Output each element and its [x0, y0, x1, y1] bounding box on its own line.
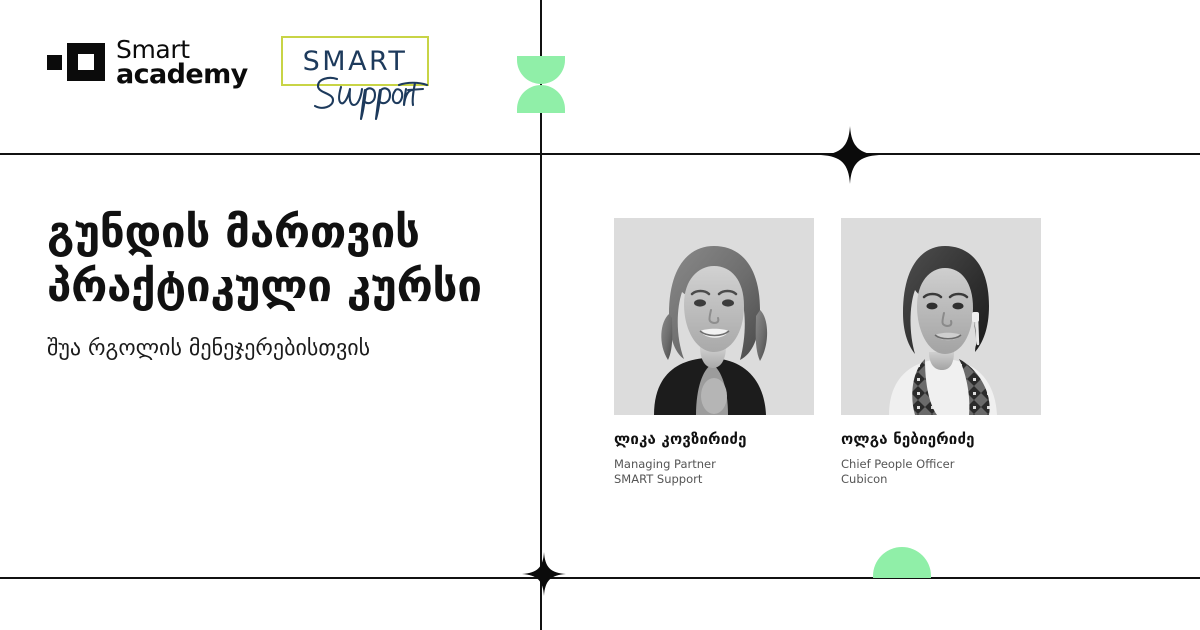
half-circle-shape	[873, 547, 931, 578]
page-title: გუნდის მართვის პრაქტიკული კურსი	[47, 206, 527, 313]
speaker-role: Chief People Officer Cubicon	[841, 457, 1041, 487]
smart-academy-wordmark: Smart academy	[116, 38, 248, 87]
logo-word-academy: academy	[116, 62, 248, 87]
speaker-card: ოლგა ნებიერიძე Chief People Officer Cubi…	[841, 218, 1041, 487]
speaker-name: ოლგა ნებიერიძე	[841, 430, 1041, 448]
square-in-square-mark-icon	[47, 43, 105, 81]
speaker-list: ლიკა კოვზირიძე Managing Partner SMART Su…	[614, 218, 1041, 487]
speaker-photo	[841, 218, 1041, 415]
small-square-icon	[47, 55, 62, 70]
sparkle-icon	[821, 126, 879, 184]
logo-script-support	[307, 69, 429, 121]
speaker-company: SMART Support	[614, 472, 814, 487]
speaker-role: Managing Partner SMART Support	[614, 457, 814, 487]
smart-support-logo[interactable]: SMART	[281, 36, 431, 126]
divider-line-bottom	[0, 577, 1200, 579]
speaker-name: ლიკა კოვზირიძე	[614, 430, 814, 448]
sparkle-icon	[522, 552, 566, 596]
speaker-job-title: Chief People Officer	[841, 457, 1041, 472]
speaker-job-title: Managing Partner	[614, 457, 814, 472]
logo-row: Smart academy SMART	[0, 0, 540, 153]
smart-academy-logo[interactable]: Smart academy	[47, 38, 248, 87]
hero-block: გუნდის მართვის პრაქტიკული კურსი შუა რგოლ…	[47, 206, 527, 364]
logo-word-smart: Smart	[116, 38, 248, 62]
speaker-company: Cubicon	[841, 472, 1041, 487]
speaker-photo	[614, 218, 814, 415]
poster-canvas: Smart academy SMART	[0, 0, 1200, 630]
divider-line-top	[0, 153, 1200, 155]
speaker-card: ლიკა კოვზირიძე Managing Partner SMART Su…	[614, 218, 814, 487]
page-subtitle: შუა რგოლის მენეჯერებისთვის	[47, 335, 527, 364]
big-square-icon	[67, 43, 105, 81]
